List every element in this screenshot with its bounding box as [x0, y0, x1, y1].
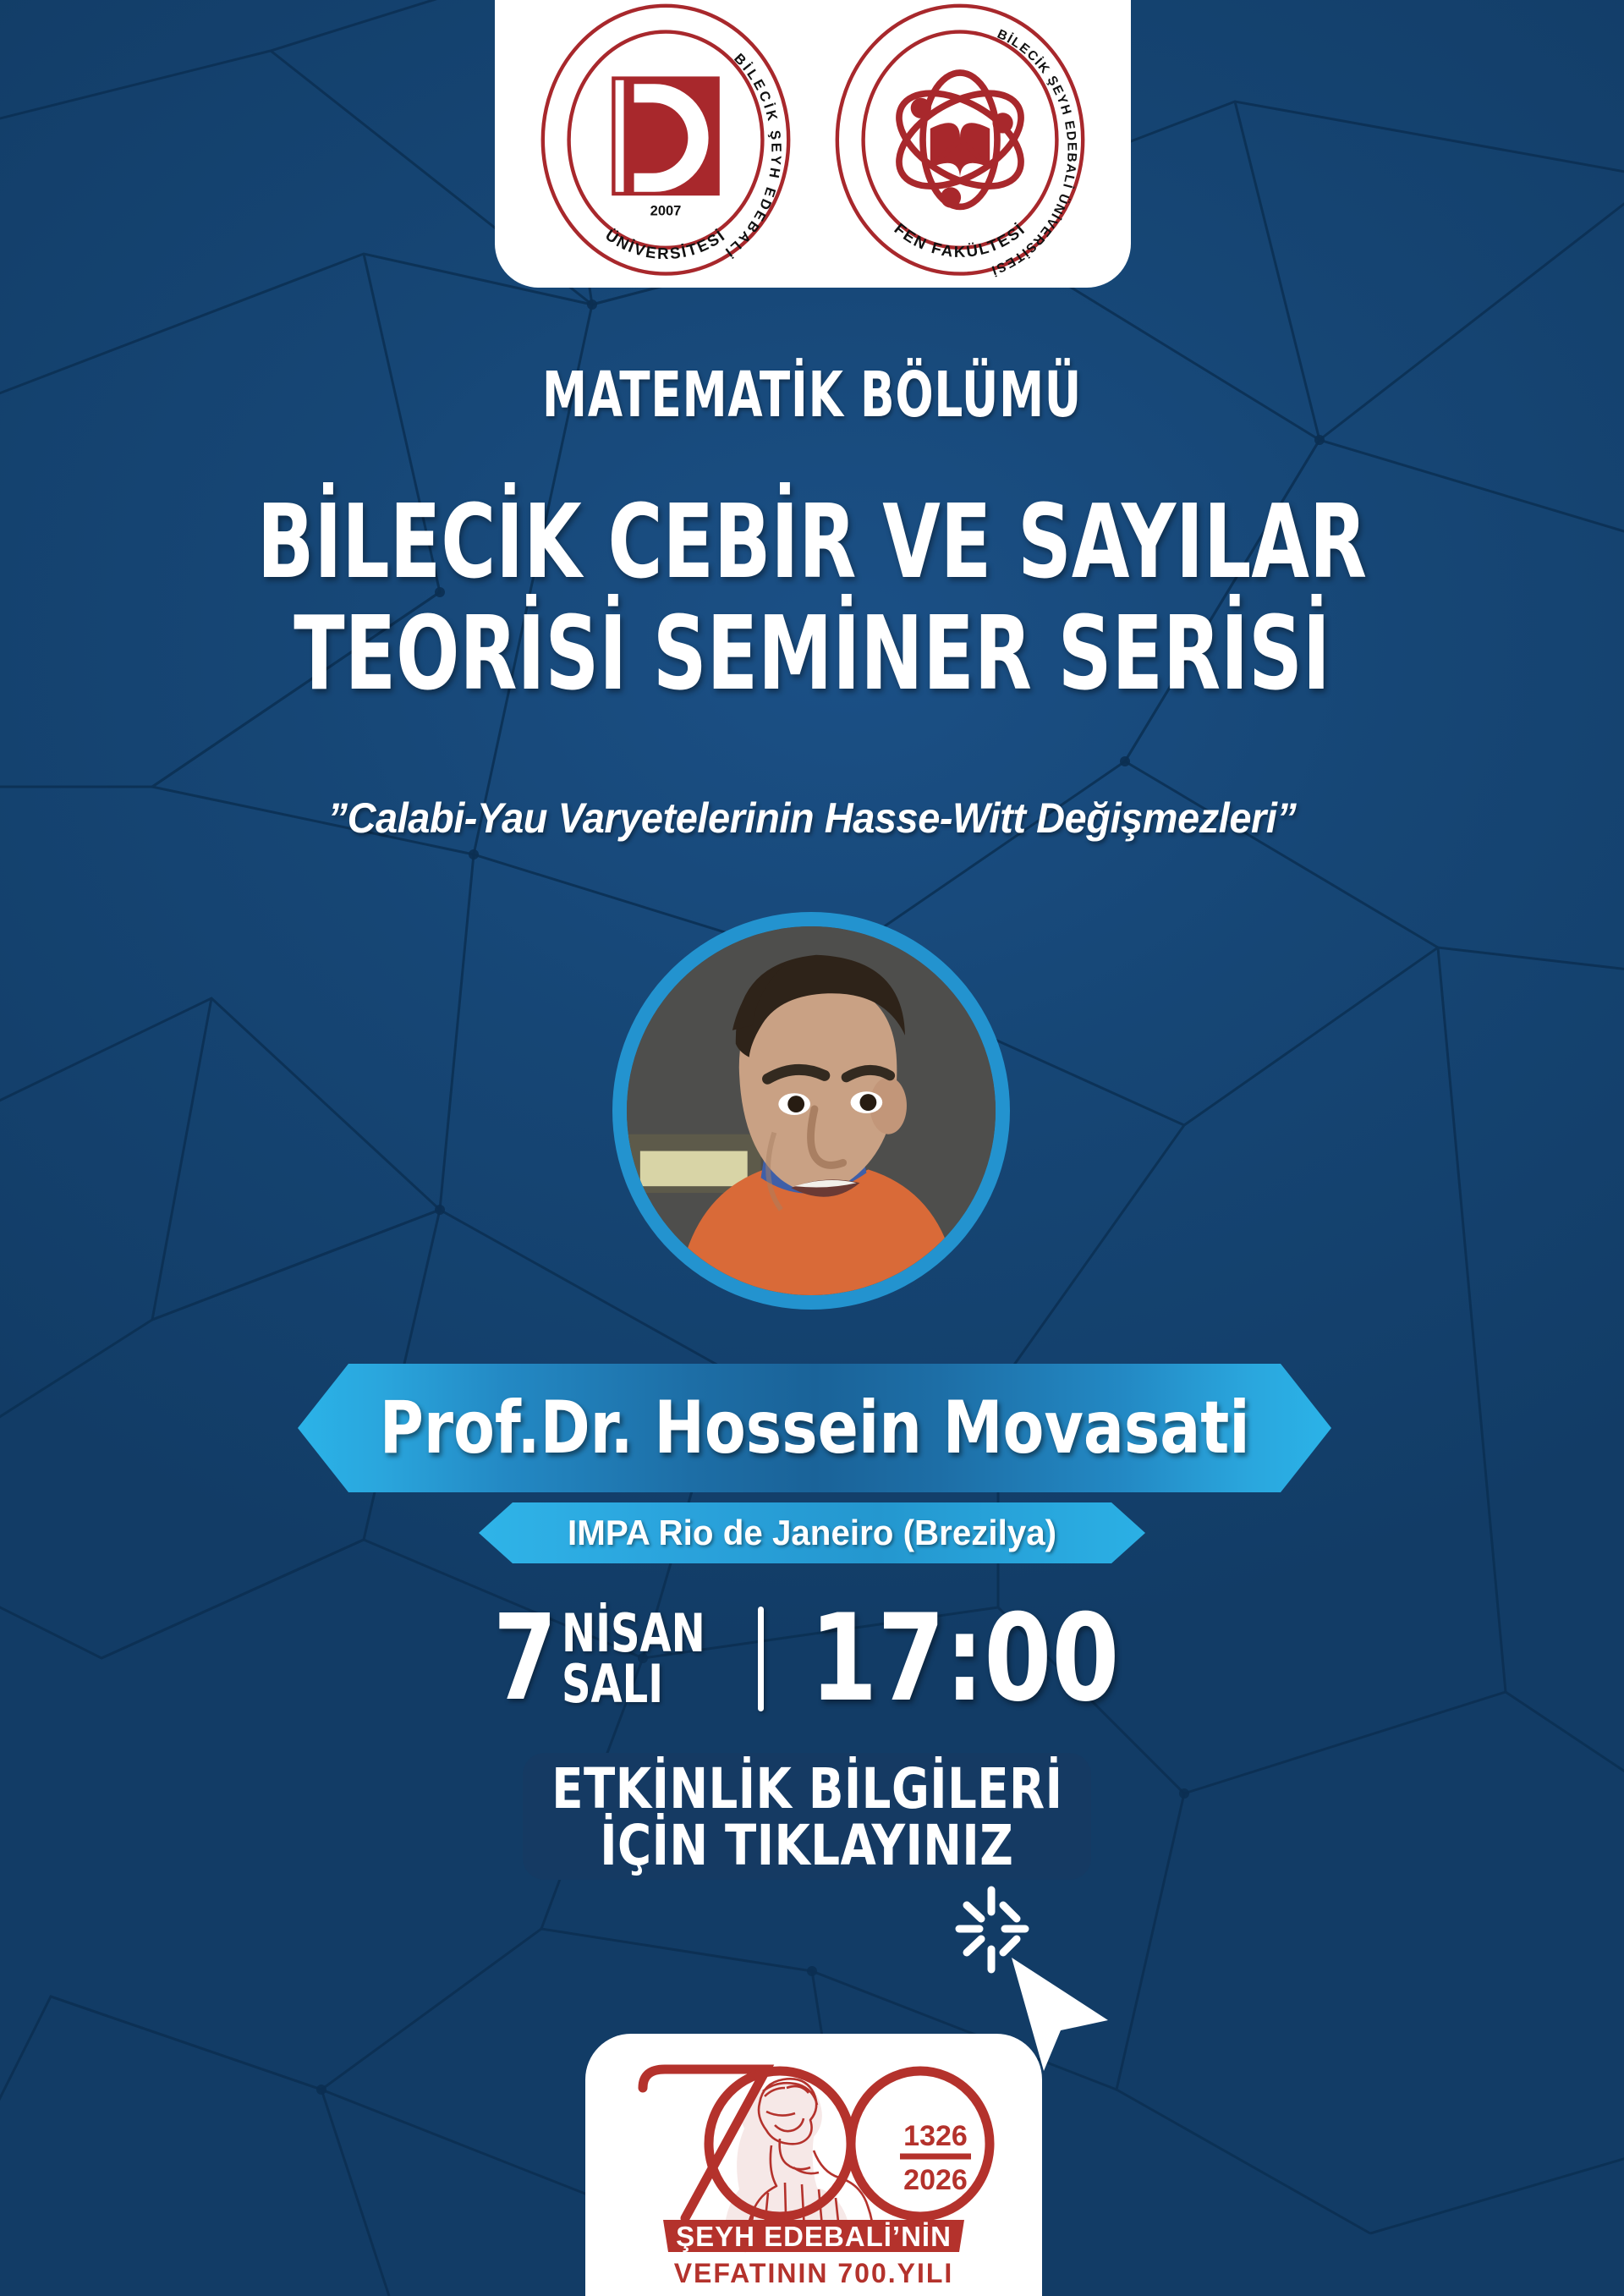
- faculty-seal-logo: BİLECİK ŞEYH EDEBALİ ÜNİVERSİTESİ FEN FA…: [820, 0, 1100, 277]
- anniv-subtitle-text: VEFATININ 700.YILI: [674, 2258, 954, 2288]
- event-day-number: 7: [493, 1605, 557, 1714]
- speaker-name-text: Prof.Dr. Hossein Movasati: [380, 1386, 1250, 1470]
- seminar-poster: BİLECİK ŞEYH EDEBALİ ÜNİVERSİTESİ 2007: [0, 0, 1624, 2296]
- department-heading: MATEMATİK BÖLÜMÜ: [162, 359, 1462, 431]
- event-time: 17:00: [809, 1599, 1119, 1719]
- anniversary-logo-panel: 1326 2026 ŞEYH EDEBALİ’NİN VEFATININ 700…: [585, 2034, 1042, 2296]
- speaker-portrait-ring: [612, 912, 1010, 1310]
- speaker-portrait-photo: [627, 926, 996, 1295]
- talk-title: ”Calabi-Yau Varyetelerinin Hasse-Witt De…: [49, 794, 1576, 843]
- event-weekday: SALI: [562, 1659, 663, 1710]
- series-title-line-2: TEORİSİ SEMİNER SERİSİ: [146, 604, 1478, 706]
- speaker-affiliation-text: IMPA Rio de Janeiro (Brezilya): [568, 1513, 1056, 1553]
- event-date-words: NİSAN SALI: [562, 1608, 728, 1709]
- speaker-affiliation-banner: IMPA Rio de Janeiro (Brezilya): [479, 1502, 1145, 1563]
- university-seal-logo: BİLECİK ŞEYH EDEBALİ ÜNİVERSİTESİ 2007: [526, 0, 805, 277]
- svg-text:2007: 2007: [650, 203, 682, 218]
- seyh-edebali-700th-anniversary-logo: 1326 2026 ŞEYH EDEBALİ’NİN VEFATININ 700…: [606, 2041, 1022, 2294]
- event-info-link-button[interactable]: ETKİNLİK BİLGİLERİ İÇİN TIKLAYINIZ: [523, 1753, 1091, 1880]
- anniv-year-to: 2026: [903, 2164, 968, 2196]
- cta-line-1: ETKİNLİK BİLGİLERİ: [551, 1760, 1062, 1817]
- datetime-divider: [758, 1607, 764, 1711]
- institution-logo-panel: BİLECİK ŞEYH EDEBALİ ÜNİVERSİTESİ 2007: [495, 0, 1131, 288]
- series-title-line-1: BİLECİK CEBİR VE SAYILAR: [146, 492, 1478, 594]
- cta-line-2: İÇİN TIKLAYINIZ: [600, 1817, 1013, 1874]
- anniv-year-from: 1326: [903, 2120, 968, 2152]
- speaker-name-banner: Prof.Dr. Hossein Movasati: [298, 1364, 1331, 1492]
- event-date-block: 7 NİSAN SALI: [488, 1605, 729, 1714]
- anniv-banner-text: ŞEYH EDEBALİ’NİN: [676, 2221, 952, 2252]
- event-datetime-row: 7 NİSAN SALI 17:00: [0, 1599, 1624, 1719]
- event-month: NİSAN: [562, 1608, 705, 1659]
